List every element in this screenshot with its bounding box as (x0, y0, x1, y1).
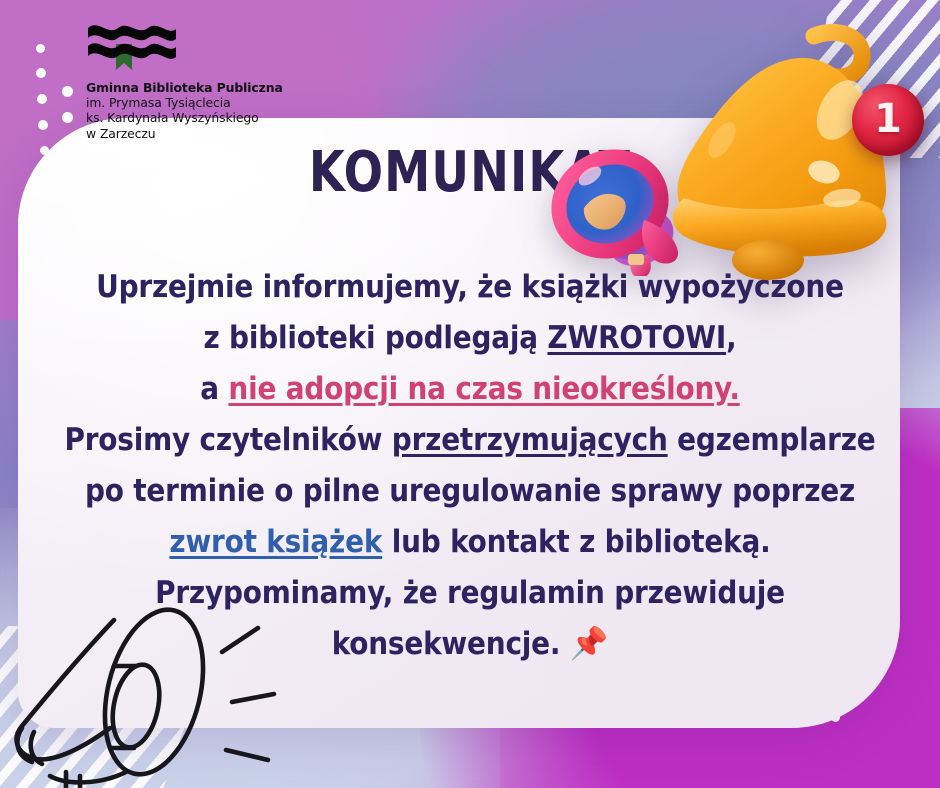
body-line-4: Prosimy czytelników przetrzymujących egz… (37, 415, 904, 466)
library-name-line-1: Gminna Biblioteka Publiczna (86, 80, 336, 95)
body-line-4-tail: egzemplarze (668, 422, 876, 458)
library-name: Gminna Biblioteka Publiczna im. Prymasa … (86, 80, 336, 141)
library-name-line-4: w Zarzeczu (86, 126, 336, 141)
library-wave-bookmark-logo-icon (86, 22, 178, 74)
library-name-line-2: im. Prymasa Tysiąclecia (86, 95, 336, 110)
notification-badge: 1 (852, 84, 924, 156)
announcement-body: Uprzejmie informujemy, że książki wypoży… (30, 262, 910, 670)
body-line-8: konsekwencje. 📌 (37, 619, 904, 670)
pushpin-icon: 📌 (570, 626, 608, 662)
body-line-6: zwrot książek lub kontakt z biblioteką. (37, 517, 904, 568)
body-line-2: z biblioteki podlegają ZWROTOWI, (37, 313, 904, 364)
emphasis-nie-adopcji: nie adopcji na czas nieokreślony. (228, 371, 739, 407)
body-line-7: Przypominamy, że regulamin przewiduje (37, 568, 904, 619)
body-line-3: a nie adopcji na czas nieokreślony. (37, 364, 904, 415)
notification-badge-count: 1 (874, 99, 902, 139)
emphasis-zwrotowi: ZWROTOWI (547, 320, 726, 356)
body-line-7-text: Przypominamy, że regulamin przewiduje (155, 575, 785, 611)
library-name-line-3: ks. Kardynała Wyszyńskiego (86, 110, 336, 125)
dot (38, 120, 48, 130)
dot (37, 94, 47, 104)
dot (62, 86, 73, 97)
body-line-3-text: a (200, 371, 228, 407)
body-line-5-text: po terminie o pilne uregulowanie sprawy … (85, 473, 855, 509)
dot (36, 68, 46, 78)
emphasis-zwrot-ksiazek[interactable]: zwrot książek (169, 524, 382, 560)
dot (62, 112, 73, 123)
body-line-4-text: Prosimy czytelników (64, 422, 391, 458)
body-line-5: po terminie o pilne uregulowanie sprawy … (37, 466, 904, 517)
poster-canvas: Gminna Biblioteka Publiczna im. Prymasa … (0, 0, 940, 788)
body-line-8-text: konsekwencje. (332, 626, 570, 662)
notification-bell-3d-icon: 1 (618, 22, 938, 282)
body-line-6-tail: lub kontakt z biblioteką. (382, 524, 770, 560)
library-logo: Gminna Biblioteka Publiczna im. Prymasa … (86, 22, 336, 141)
body-line-2-tail: , (726, 320, 736, 356)
body-line-2-text: z biblioteki podlegają (203, 320, 547, 356)
dot (36, 44, 45, 53)
emphasis-przetrzymujacych: przetrzymujących (392, 422, 668, 458)
